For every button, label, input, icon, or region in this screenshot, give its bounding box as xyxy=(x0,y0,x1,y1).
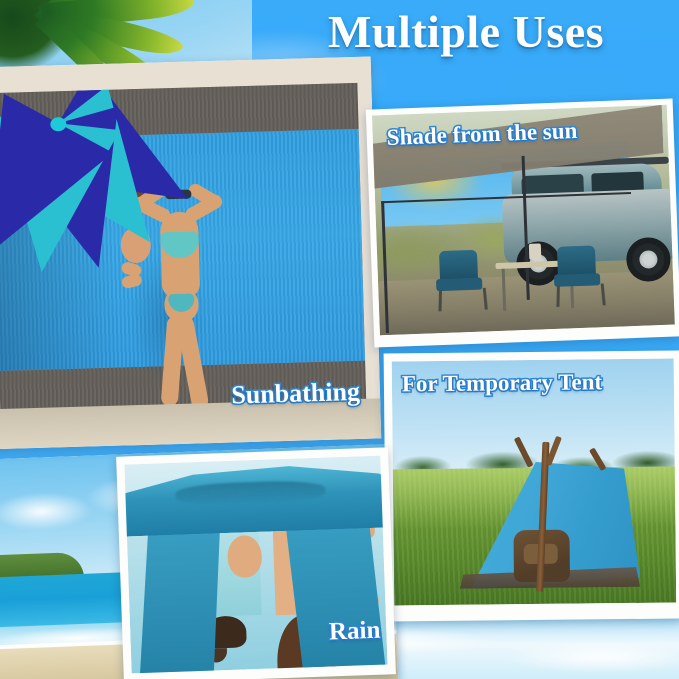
tent-graphic xyxy=(451,455,642,597)
photo-panel-rain: Rain xyxy=(116,447,396,679)
caption-rain: Rain xyxy=(328,617,380,647)
beach-umbrella-graphic xyxy=(0,114,173,300)
beach-mat-graphic xyxy=(0,83,367,427)
photo-panel-tent: For Temporary Tent xyxy=(384,350,679,621)
camp-chair-graphic xyxy=(553,245,601,307)
cup-graphic xyxy=(529,243,542,259)
caption-sunbathing: Sunbathing xyxy=(231,377,360,411)
photo-panel-shade: Shade from the sun xyxy=(366,98,679,347)
photo-panel-sunbathing: Sunbathing xyxy=(0,56,381,449)
caption-tent: For Temporary Tent xyxy=(402,369,602,397)
infographic-canvas: Multiple Uses xyxy=(0,0,679,679)
camp-chair-graphic xyxy=(435,250,483,312)
page-title: Multiple Uses xyxy=(260,4,672,60)
